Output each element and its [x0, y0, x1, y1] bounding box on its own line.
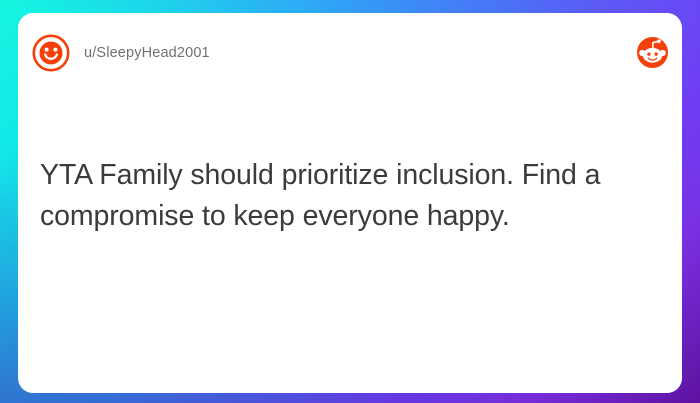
post-body-text: YTA Family should prioritize inclusion. … — [40, 155, 652, 237]
avatar[interactable] — [32, 34, 70, 72]
reddit-snoo-icon[interactable] — [637, 37, 668, 68]
card-header: u/SleepyHead2001 — [18, 13, 682, 93]
username-label: u/SleepyHead2001 — [84, 44, 210, 63]
reddit-comment-card: u/SleepyHead2001 — [18, 13, 682, 393]
gradient-background: u/SleepyHead2001 — [0, 0, 700, 403]
